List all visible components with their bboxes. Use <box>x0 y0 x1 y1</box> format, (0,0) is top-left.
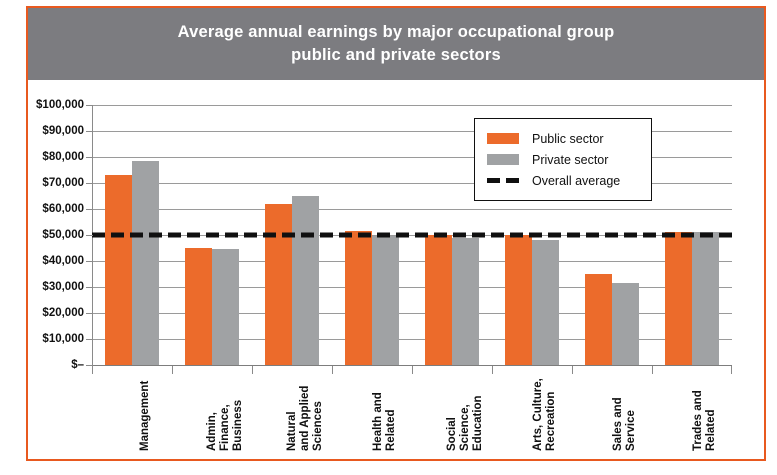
y-axis-tick-label: $60,000 <box>24 203 84 215</box>
legend-row: Overall average <box>487 170 641 191</box>
x-axis-category-label-line: Recreation <box>545 378 558 451</box>
x-axis-category-label-line: Business <box>232 400 245 451</box>
bar-private <box>532 240 559 365</box>
bar-public <box>185 248 212 365</box>
bar-private <box>132 161 159 365</box>
legend-label: Public sector <box>532 132 604 146</box>
y-axis-tick-mark <box>86 287 93 288</box>
x-axis-category-label-line: Trades and <box>692 390 705 451</box>
x-axis-category-label-line: Health and <box>372 392 385 451</box>
x-axis-category-label: Trades andRelated <box>692 390 718 451</box>
y-axis-tick-mark <box>86 209 93 210</box>
y-axis-tick-label: $100,000 <box>24 99 84 111</box>
gridline <box>92 105 732 106</box>
plot-wrapper: $–$10,000$20,000$30,000$40,000$50,000$60… <box>28 80 768 461</box>
x-axis-category-label-line: Sciences <box>312 386 325 451</box>
x-axis-category-label-line: Education <box>472 395 485 451</box>
y-axis-tick-mark <box>86 339 93 340</box>
x-axis-tick-mark <box>332 366 333 374</box>
chart-title-bar: Average annual earnings by major occupat… <box>28 8 764 80</box>
y-axis-tick-label: $– <box>24 359 84 371</box>
gridline <box>92 209 732 210</box>
overall-average-line <box>92 233 732 238</box>
y-axis-tick-label: $30,000 <box>24 281 84 293</box>
x-axis-category-label: Admin,Finance,Business <box>206 400 245 451</box>
bar-private <box>612 283 639 365</box>
x-axis: ManagementAdmin,Finance,BusinessNaturala… <box>92 366 732 461</box>
x-axis-category-label-line: Social <box>446 395 459 451</box>
y-axis-tick-mark <box>86 261 93 262</box>
legend-swatch <box>487 133 519 144</box>
x-axis-category-label-line: Service <box>625 397 638 451</box>
bar-public <box>505 235 532 365</box>
bar-private <box>452 238 479 365</box>
x-axis-tick-mark <box>652 366 653 374</box>
x-axis-category-label-line: and Applied <box>299 386 312 451</box>
x-axis-category-label-line: Natural <box>286 386 299 451</box>
chart-legend: Public sectorPrivate sectorOverall avera… <box>474 118 652 201</box>
legend-swatch <box>487 178 519 183</box>
legend-label: Overall average <box>532 174 620 188</box>
x-axis-category-label-line: Related <box>705 390 718 451</box>
x-axis-tick-mark <box>92 366 93 374</box>
chart-figure: Average annual earnings by major occupat… <box>26 6 766 461</box>
y-axis-tick-label: $50,000 <box>24 229 84 241</box>
bar-public <box>265 204 292 365</box>
bar-private <box>292 196 319 365</box>
y-axis-tick-label: $80,000 <box>24 151 84 163</box>
y-axis-tick-mark <box>86 183 93 184</box>
x-axis-category-label: SocialScience,Education <box>446 395 485 451</box>
x-axis-category-label-line: Finance, <box>219 400 232 451</box>
legend-row: Public sector <box>487 128 641 149</box>
legend-row: Private sector <box>487 149 641 170</box>
bar-private <box>212 249 239 365</box>
legend-swatch <box>487 154 519 165</box>
x-axis-tick-mark <box>572 366 573 374</box>
x-axis-tick-mark <box>252 366 253 374</box>
bar-public <box>585 274 612 365</box>
chart-title-line-1: Average annual earnings by major occupat… <box>178 21 615 44</box>
y-axis-tick-label: $40,000 <box>24 255 84 267</box>
bar-public <box>105 175 132 365</box>
bar-public <box>345 231 372 365</box>
y-axis-tick-label: $10,000 <box>24 333 84 345</box>
bar-private <box>692 232 719 365</box>
y-axis-tick-mark <box>86 313 93 314</box>
chart-title-line-2: public and private sectors <box>291 44 501 67</box>
x-axis-category-label-line: Arts, Culture, <box>532 378 545 451</box>
y-axis-tick-mark <box>86 157 93 158</box>
x-axis-category-label: Naturaland AppliedSciences <box>286 386 325 451</box>
y-axis-tick-label: $70,000 <box>24 177 84 189</box>
bar-public <box>425 235 452 365</box>
legend-label: Private sector <box>532 153 608 167</box>
x-axis-tick-mark <box>412 366 413 374</box>
y-axis-tick-labels: $–$10,000$20,000$30,000$40,000$50,000$60… <box>28 105 84 365</box>
x-axis-tick-mark <box>172 366 173 374</box>
x-axis-category-label: Management <box>139 381 152 451</box>
x-axis-category-label-line: Sales and <box>612 397 625 451</box>
x-axis-category-label: Health andRelated <box>372 392 398 451</box>
x-axis-tick-mark <box>731 366 732 374</box>
y-axis-tick-mark <box>86 131 93 132</box>
y-axis-tick-label: $20,000 <box>24 307 84 319</box>
y-axis-tick-mark <box>86 365 93 366</box>
x-axis-tick-mark <box>492 366 493 374</box>
bar-public <box>665 232 692 365</box>
x-axis-category-label-line: Admin, <box>206 400 219 451</box>
x-axis-category-label: Arts, Culture,Recreation <box>532 378 558 451</box>
y-axis-tick-mark <box>86 235 93 236</box>
x-axis-category-label-line: Management <box>139 381 152 451</box>
x-axis-category-label-line: Related <box>385 392 398 451</box>
bar-private <box>372 236 399 365</box>
x-axis-category-label-line: Science, <box>459 395 472 451</box>
y-axis-tick-label: $90,000 <box>24 125 84 137</box>
x-axis-category-label: Sales andService <box>612 397 638 451</box>
y-axis-tick-mark <box>86 105 93 106</box>
